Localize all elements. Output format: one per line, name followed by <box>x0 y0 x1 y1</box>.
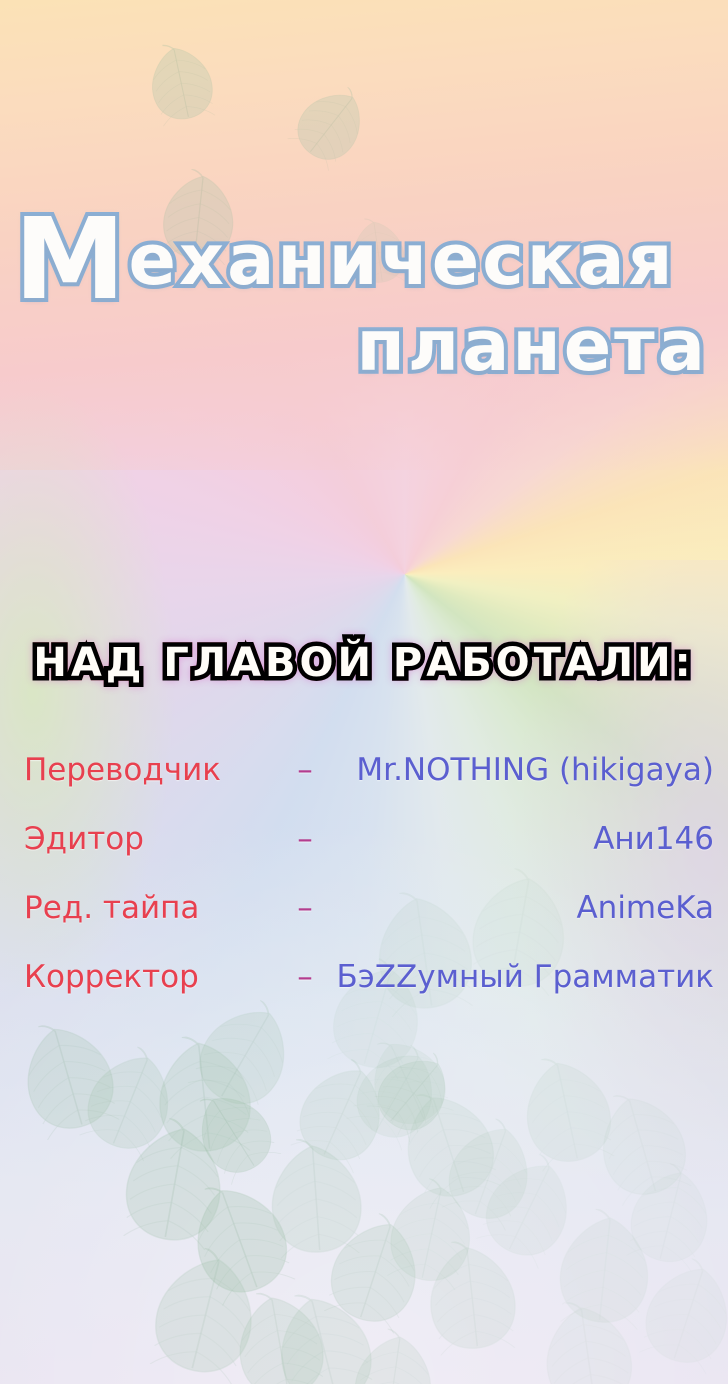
credit-separator: – <box>274 821 336 857</box>
credits-heading-wrap: НАД ГЛАВОЙ РАБОТАЛИ: НАД ГЛАВОЙ РАБОТАЛИ… <box>33 640 694 686</box>
credit-role-label: Ред. тайпа <box>24 890 274 926</box>
credits-heading-fill: НАД ГЛАВОЙ РАБОТАЛИ: <box>33 640 694 686</box>
credit-person-name: AnimeKa <box>336 890 714 926</box>
credit-role-label: Эдитор <box>24 821 274 857</box>
credits-list: Переводчик–Mr.NOTHING (hikigaya)Эдитор–А… <box>24 752 714 1028</box>
credits-page: Механическая планета НАД ГЛАВОЙ РАБОТАЛИ… <box>0 0 728 1384</box>
credit-role-label: Переводчик <box>24 752 274 788</box>
credit-separator: – <box>274 752 336 788</box>
series-title-line-1-rest: еханическая <box>128 219 675 301</box>
credit-role-label: Корректор <box>24 959 274 995</box>
credits-heading: НАД ГЛАВОЙ РАБОТАЛИ: НАД ГЛАВОЙ РАБОТАЛИ… <box>0 640 728 686</box>
series-title-line-1: Механическая <box>14 216 712 306</box>
credit-person-name: Mr.NOTHING (hikigaya) <box>336 752 714 788</box>
series-title-initial: М <box>14 195 128 325</box>
credit-separator: – <box>274 959 336 995</box>
credit-row: Эдитор–Ани146 <box>24 821 714 890</box>
credit-row: Корректор–БэZZумный Грамматик <box>24 959 714 1028</box>
credit-row: Переводчик–Mr.NOTHING (hikigaya) <box>24 752 714 821</box>
credit-row: Ред. тайпа–AnimeKa <box>24 890 714 959</box>
credit-person-name: Ани146 <box>336 821 714 857</box>
credit-person-name: БэZZумный Грамматик <box>336 959 714 995</box>
credit-separator: – <box>274 890 336 926</box>
series-title: Механическая планета <box>0 216 728 380</box>
